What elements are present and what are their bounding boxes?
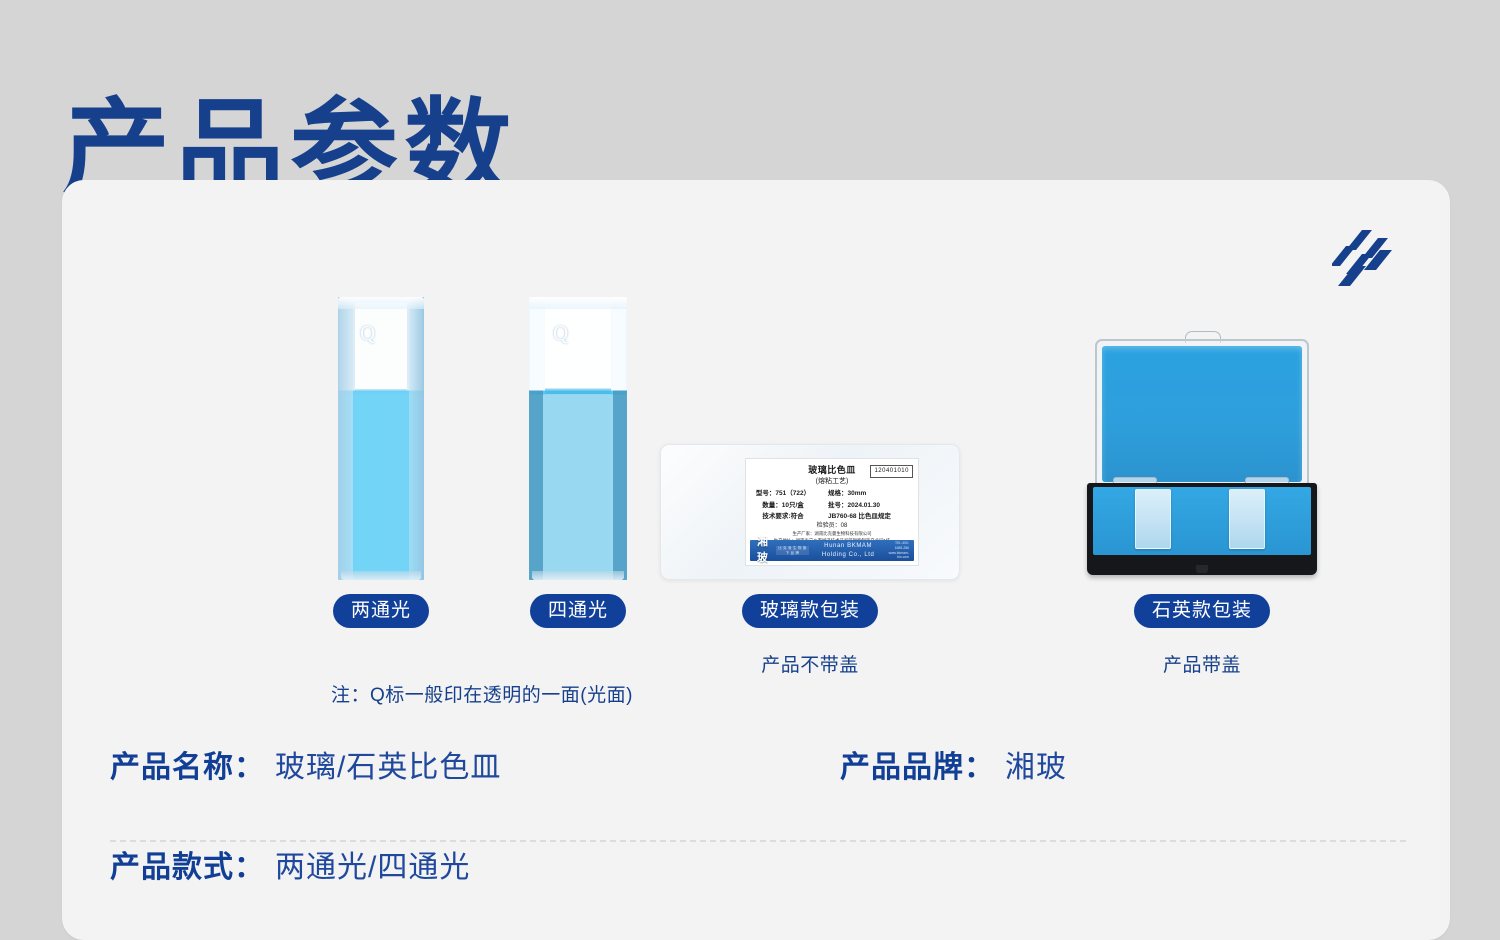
label-inspector: 检验员：08 (752, 522, 912, 531)
label-standard-value: JB760-68 比色皿规定 (828, 512, 891, 521)
banner-tel: TEL:400-1688-286 (895, 541, 909, 550)
cuvette-four-way-graphic: Q (529, 297, 627, 580)
banner-web: www.bkmam-bio.com (889, 551, 909, 560)
spec-value-product-brand: 湘玻 (1005, 742, 1067, 786)
label-size: 规格：30mm (828, 489, 866, 498)
glass-package-graphic: 玻璃比色皿 (熔粘工艺) 120401010 型号：751（722） 规格：30… (660, 444, 960, 580)
pill-quartz-package[interactable]: 石英款包装 (1134, 594, 1270, 628)
product-two-way-cuvette: Q 两通光 (276, 280, 486, 628)
spec-row-style: 产品款式： 两通光/四通光 (110, 840, 1406, 940)
label-subtitle: (熔粘工艺) (752, 477, 912, 487)
label-model: 型号：751（722） (752, 489, 814, 498)
cuvette-two-way-graphic: Q (338, 297, 424, 580)
spec-list: 产品名称： 玻璃/石英比色皿 产品品牌： 湘玻 产品款式： 两通光/四通光 (62, 742, 1450, 940)
pill-glass-package[interactable]: 玻璃款包装 (742, 594, 878, 628)
banner-brand-cn: 湘玻 (755, 535, 771, 567)
q-mark-label: Q (360, 321, 375, 346)
spec-key-product-brand: 产品品牌： (840, 742, 995, 786)
spec-product-style: 产品款式： 两通光/四通光 (110, 842, 840, 886)
label-maker: 生产厂家：湖南比克曼生物科技有限公司 (752, 531, 912, 538)
case-cuvette-slot-1 (1135, 489, 1171, 549)
spec-value-product-name: 玻璃/石英比色皿 (275, 742, 501, 786)
product-spec-card: Q 两通光 Q 四通光 (62, 180, 1450, 940)
label-brand-banner: 湘玻 比 克 曼 生 物 旗 下 品 牌 Hunan BKMAM Holding… (750, 540, 914, 561)
product-gallery: Q 两通光 Q 四通光 (62, 280, 1450, 680)
banner-brand-en: Hunan BKMAM Holding Co., Ltd (814, 542, 883, 559)
pill-four-way[interactable]: 四通光 (530, 594, 626, 628)
spec-row-name-brand: 产品名称： 玻璃/石英比色皿 产品品牌： 湘玻 (110, 742, 1406, 840)
case-cuvette-slot-2 (1229, 489, 1265, 549)
product-image-two-way-cuvette: Q (276, 280, 486, 580)
quartz-case-graphic (1087, 325, 1317, 580)
cuvette-q-mark-note: 注：Q标一般印在透明的一面(光面) (202, 680, 762, 707)
spec-value-product-style: 两通光/四通光 (275, 842, 470, 886)
case-latch-icon (1196, 565, 1208, 573)
spec-key-product-style: 产品款式： (110, 842, 265, 886)
label-standard-key: 技术要求:符合 (752, 512, 814, 521)
case-lid (1095, 339, 1309, 489)
caption-glass-package: 产品不带盖 (660, 650, 960, 677)
label-batch: 批号：2024.01.30 (828, 501, 880, 510)
case-base (1087, 483, 1317, 575)
label-code: 120401010 (870, 465, 913, 478)
product-image-four-way-cuvette: Q (473, 280, 683, 580)
label-quantity: 数量：10只/盒 (752, 501, 814, 510)
product-image-quartz-package (1052, 280, 1352, 580)
spec-key-product-name: 产品名称： (110, 742, 265, 786)
brand-logo (1332, 228, 1402, 286)
product-quartz-package: 石英款包装 产品带盖 (1052, 280, 1352, 677)
product-glass-package: 玻璃比色皿 (熔粘工艺) 120401010 型号：751（722） 规格：30… (660, 280, 960, 677)
banner-brand-sub: 比 克 曼 生 物 旗 下 品 牌 (776, 546, 809, 556)
spec-product-name: 产品名称： 玻璃/石英比色皿 (110, 742, 840, 786)
q-mark-label: Q (553, 321, 568, 346)
banner-contact: TEL:400-1688-286 www.bkmam-bio.com (887, 541, 909, 560)
package-label: 玻璃比色皿 (熔粘工艺) 120401010 型号：751（722） 规格：30… (745, 458, 919, 566)
pill-two-way[interactable]: 两通光 (333, 594, 429, 628)
spec-product-brand: 产品品牌： 湘玻 (840, 742, 1067, 786)
product-image-glass-package: 玻璃比色皿 (熔粘工艺) 120401010 型号：751（722） 规格：30… (660, 280, 960, 580)
caption-quartz-package: 产品带盖 (1052, 650, 1352, 677)
product-four-way-cuvette: Q 四通光 (473, 280, 683, 628)
